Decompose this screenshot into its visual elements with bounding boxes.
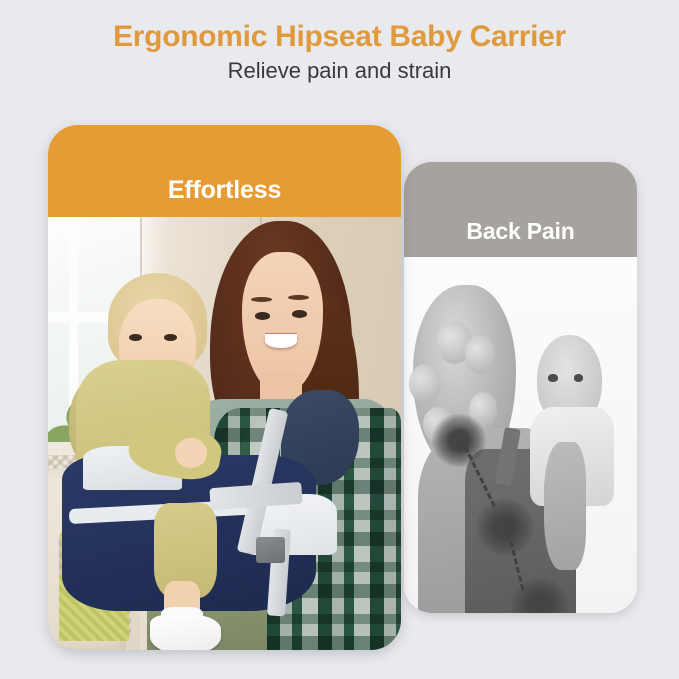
card-effortless[interactable]: Effortless xyxy=(48,125,401,650)
page-subtitle: Relieve pain and strain xyxy=(0,59,679,83)
comparison-cards: Back Pain xyxy=(0,0,679,679)
card-effortless-label: Effortless xyxy=(168,176,281,205)
card-back-pain-label: Back Pain xyxy=(466,218,574,245)
page-header: Ergonomic Hipseat Baby Carrier Relieve p… xyxy=(0,0,679,83)
card-back-pain-photo xyxy=(404,257,637,613)
card-back-pain-header: Back Pain xyxy=(404,162,637,257)
card-effortless-photo xyxy=(48,217,401,650)
page-title: Ergonomic Hipseat Baby Carrier xyxy=(0,20,679,53)
card-effortless-header: Effortless xyxy=(48,125,401,217)
pain-marker-upper xyxy=(432,414,486,467)
card-back-pain[interactable]: Back Pain xyxy=(404,162,637,613)
